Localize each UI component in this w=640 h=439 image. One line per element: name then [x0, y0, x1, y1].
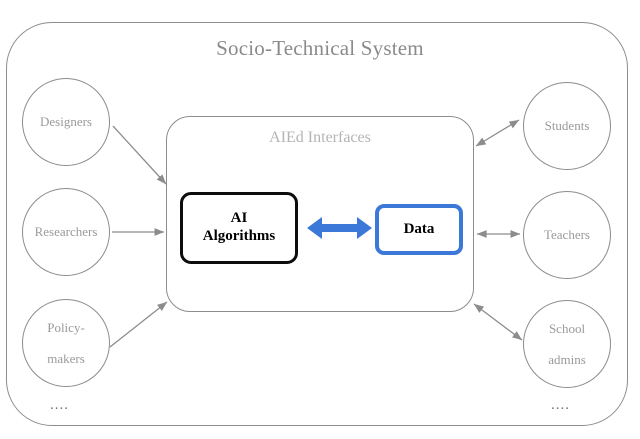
stakeholder-designers-label: Designers — [36, 114, 96, 129]
stakeholder-researchers-label: Researchers — [31, 224, 102, 239]
node-data[interactable]: Data — [375, 204, 463, 255]
stakeholder-teachers[interactable]: Teachers — [523, 191, 611, 279]
stakeholder-school-admins-label2: admins — [544, 352, 590, 367]
diagram-canvas: Socio-Technical System AIEd Interfaces — [0, 0, 640, 439]
node-ai-line2: Algorithms — [203, 228, 276, 244]
page-title: Socio-Technical System — [0, 36, 640, 61]
node-ai-line1: AI — [231, 210, 248, 226]
stakeholder-students-label: Students — [541, 118, 594, 133]
stakeholder-researchers[interactable]: Researchers — [22, 188, 110, 276]
ellipsis-right: .... — [551, 398, 570, 413]
stakeholder-designers[interactable]: Designers — [22, 78, 110, 166]
stakeholder-teachers-label: Teachers — [540, 227, 594, 242]
stakeholder-school-admins[interactable]: School admins — [523, 300, 611, 388]
stakeholder-policymakers-label2: makers — [43, 351, 89, 366]
aied-interfaces-label: AIEd Interfaces — [166, 129, 474, 147]
node-ai-algorithms[interactable]: AI Algorithms — [180, 192, 298, 264]
node-data-label: Data — [404, 221, 435, 238]
stakeholder-school-admins-label: School — [544, 321, 590, 336]
ellipsis-left: .... — [50, 398, 69, 413]
stakeholder-policymakers-label: Policy- — [43, 320, 89, 335]
stakeholder-policymakers[interactable]: Policy- makers — [22, 299, 110, 387]
stakeholder-students[interactable]: Students — [523, 82, 611, 170]
